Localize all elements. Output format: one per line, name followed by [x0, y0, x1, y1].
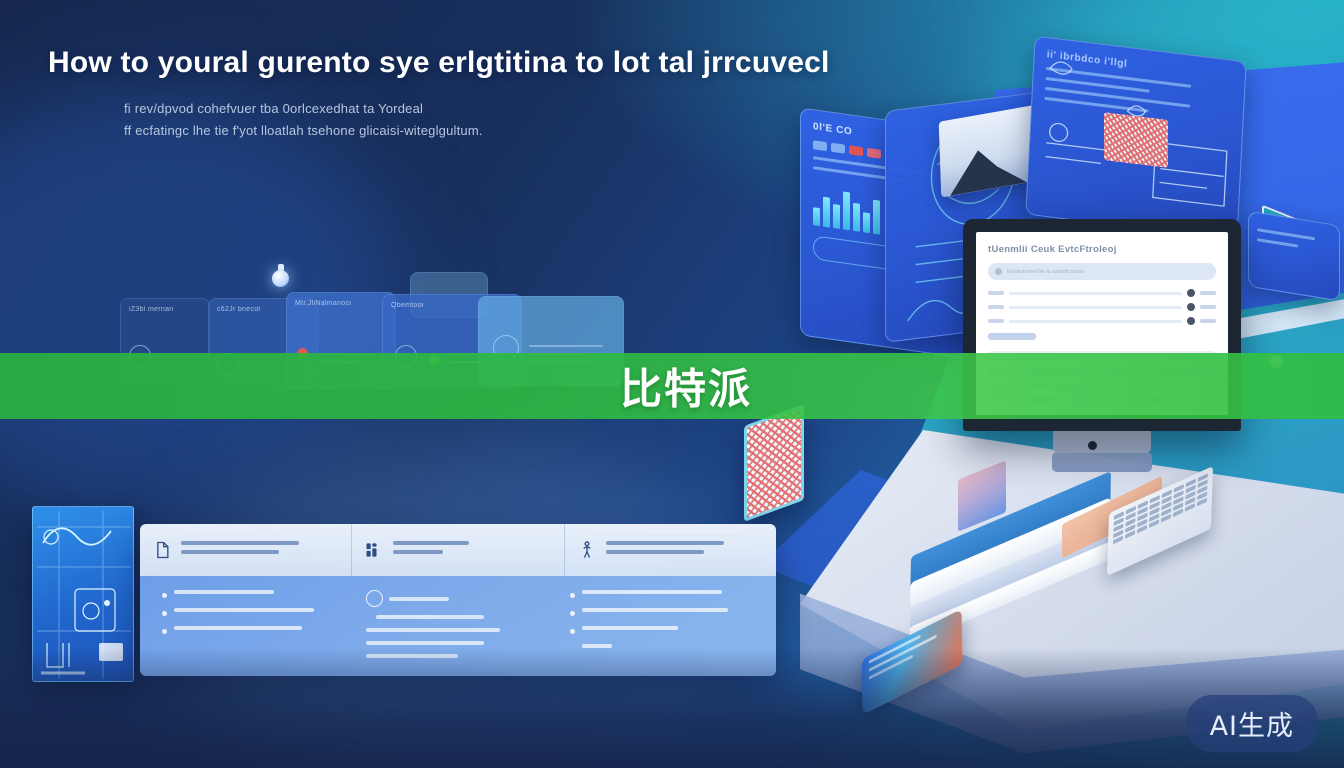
monitor-base	[1052, 452, 1152, 472]
monitor-logo-dot	[1088, 441, 1097, 450]
info-column-3-header	[564, 524, 776, 576]
banner-illustration: 0l'E CO ii'	[0, 0, 1344, 768]
info-column-1-body	[152, 590, 356, 662]
document-title: tUenmlii Ceuk EvtcFtroleoj	[988, 244, 1216, 255]
search-icon	[995, 268, 1002, 275]
info-column-3-text	[606, 541, 724, 559]
list-item	[162, 608, 346, 616]
list-item	[570, 608, 754, 616]
content-row	[988, 289, 1216, 297]
iso-panel-small	[1248, 211, 1340, 302]
search-placeholder: Enlskvrsneo/Iiw tu ualmdt sosno	[1007, 269, 1085, 275]
subtitle-line-2: ff ecfatingc lhe tie f'yot lloatlah tseh…	[124, 120, 748, 142]
info-column-1-text	[181, 541, 299, 559]
info-panel-body	[140, 576, 776, 676]
content-rows	[988, 289, 1216, 325]
content-row	[988, 317, 1216, 325]
mini-card-title: iZ3bl mernan	[129, 306, 173, 313]
list-item	[162, 590, 346, 598]
content-row	[988, 303, 1216, 311]
ai-badge-label: AI生成	[1210, 704, 1294, 743]
texture-card	[1104, 112, 1168, 168]
page-title: How to youral gurento sye erlgtitina to …	[48, 46, 748, 80]
monitor-neck	[1053, 431, 1151, 453]
list-item	[570, 590, 754, 598]
subtitle-line-1: fi rev/dpvod cohefvuer tba 0orlcexedhat …	[124, 98, 748, 120]
info-column-2-body	[356, 590, 560, 662]
info-column-1-header	[140, 524, 351, 576]
person-icon	[577, 540, 597, 560]
mini-card-title: Mtr.JliNalmanoci	[295, 300, 351, 307]
headline-block: How to youral gurento sye erlgtitina to …	[48, 46, 748, 142]
info-panel	[140, 524, 776, 676]
mini-card-title: Qbemtooi	[391, 302, 424, 309]
mini-card-title: c62Jr bnecol	[217, 306, 260, 313]
content-chip	[988, 333, 1036, 340]
info-panel-header	[140, 524, 776, 576]
list-item	[582, 644, 754, 648]
list-item	[162, 626, 346, 634]
lightbulb-icon	[272, 264, 291, 289]
info-column-2-text	[393, 541, 469, 559]
document-icon	[152, 540, 172, 560]
ai-generated-badge: AI生成	[1186, 695, 1318, 752]
list-item	[570, 626, 754, 634]
info-column-3-body	[560, 590, 764, 662]
chart-icon	[364, 540, 384, 560]
headline-subtitle: fi rev/dpvod cohefvuer tba 0orlcexedhat …	[124, 98, 748, 143]
info-circle-icon	[366, 590, 383, 607]
brand-name: 比特派	[620, 356, 752, 417]
brand-banner: 比特派	[0, 353, 1344, 419]
blueprint-card	[32, 506, 134, 682]
search-bar[interactable]: Enlskvrsneo/Iiw tu ualmdt sosno	[988, 263, 1216, 280]
red-texture-card	[744, 404, 804, 522]
info-column-2-header	[351, 524, 563, 576]
